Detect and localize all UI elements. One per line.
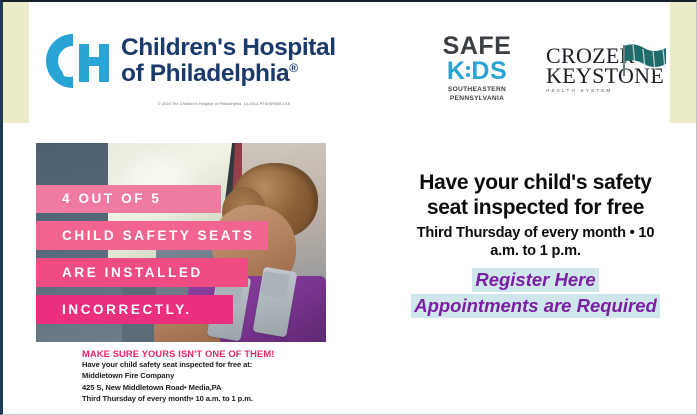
chop-wordmark: Children's Hospital of Philadelphia® — [121, 35, 336, 88]
flyer-footer-line-1: Have your child safety seat inspected fo… — [82, 359, 326, 370]
flyer-footer-line-4: Third Thursday of every month• 10 a.m. t… — [82, 393, 326, 404]
safe-kids-logo: SAFE K DS SOUTHEASTERN PENNSYLVANIA — [428, 35, 526, 104]
flyer-footer-line-2: Middletown Fire Company — [82, 370, 326, 381]
main-headline: Have your child's safety seat inspected … — [388, 170, 683, 221]
flyer-footer-headline: MAKE SURE YOURS ISN'T ONE OF THEM! — [82, 348, 326, 359]
safe-kids-colon-dots-icon — [466, 66, 470, 77]
chop-logo: Children's Hospital of Philadelphia® — [39, 30, 336, 92]
chop-c-h-child-logo-icon — [39, 30, 111, 92]
main-headline-line2: seat inspected for free — [388, 195, 683, 220]
header-logos: Children's Hospital of Philadelphia® © 2… — [3, 2, 697, 123]
safe-kids-subtitle: SOUTHEASTERN PENNSYLVANIA — [428, 86, 526, 104]
stat-bar-2: CHILD SAFETY SEATS — [36, 221, 268, 250]
safe-kids-ds-letters: DS — [471, 59, 507, 84]
chop-wordmark-line2: of Philadelphia® — [121, 61, 336, 87]
safe-kids-subtitle-line2: PENNSYLVANIA — [428, 95, 526, 104]
crozer-subtitle: HEALTH SYSTEM — [546, 88, 678, 93]
flyer-footer-line-3: 425 S, New Middletown Road• Media,PA — [82, 382, 326, 393]
register-here-link[interactable]: Register Here — [472, 268, 598, 292]
right-text-column: Have your child's safety seat inspected … — [388, 170, 683, 318]
safe-kids-safe-text: SAFE — [428, 35, 526, 59]
safety-seat-flyer: 4 OUT OF 5 CHILD SAFETY SEATS ARE INSTAL… — [36, 143, 326, 411]
chop-wordmark-line1: Children's Hospital — [121, 35, 336, 61]
appointments-required-text[interactable]: Appointments are Required — [411, 294, 660, 318]
stat-bar-1: 4 OUT OF 5 — [36, 185, 221, 213]
safe-kids-kids-text: K DS — [428, 59, 526, 84]
schedule-subhead-line1: Third Thursday of every month • 10 — [388, 225, 683, 243]
page-root: Children's Hospital of Philadelphia® © 2… — [0, 0, 697, 415]
teal-flag-icon — [620, 42, 672, 76]
chop-legal-text: © 2016 The Children's Hospital of Philad… — [119, 102, 329, 106]
stat-bar-4: INCORRECTLY. — [36, 295, 233, 324]
registered-mark: ® — [289, 61, 297, 75]
safe-kids-subtitle-line1: SOUTHEASTERN — [428, 86, 526, 95]
stat-bar-3: ARE INSTALLED — [36, 258, 248, 287]
flyer-footer: MAKE SURE YOURS ISN'T ONE OF THEM! Have … — [36, 342, 326, 411]
child-sleeping-in-car-seat-photo: 4 OUT OF 5 CHILD SAFETY SEATS ARE INSTAL… — [36, 143, 326, 342]
crozer-keystone-logo: CROZER KEYSTONE HEALTH SYSTEM — [546, 46, 678, 93]
main-headline-line1: Have your child's safety — [388, 170, 683, 195]
register-block[interactable]: Register Here Appointments are Required — [388, 268, 683, 318]
safe-kids-k-letter: K — [447, 59, 466, 84]
schedule-subhead: Third Thursday of every month • 10 a.m. … — [388, 225, 683, 261]
schedule-subhead-line2: a.m. to 1 p.m. — [388, 243, 683, 261]
harness-pad-right — [260, 271, 290, 299]
